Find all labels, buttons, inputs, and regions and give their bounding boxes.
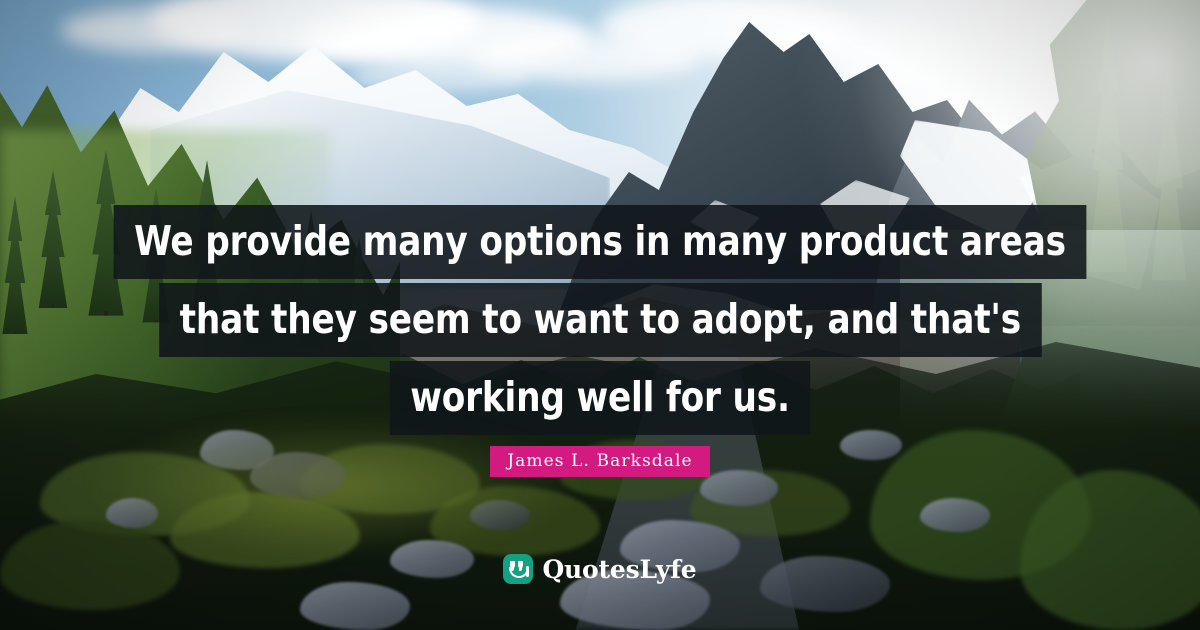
attribution: James L. Barksdale: [0, 446, 1200, 477]
quote-line-2: that they seem to want to adopt, and tha…: [159, 283, 1041, 357]
boulder: [470, 500, 530, 530]
brand-name: QuotesLyfe: [542, 557, 696, 582]
quote-line-3: working well for us.: [390, 361, 810, 435]
quote-smiley-icon: [503, 554, 533, 584]
quote-card: We provide many options in many product …: [0, 0, 1200, 630]
cloud: [60, 8, 240, 52]
quote-tail: [526, 566, 529, 577]
boulder: [106, 498, 158, 528]
brand-logo[interactable]: QuotesLyfe: [0, 554, 1200, 584]
quote-line-1: We provide many options in many product …: [114, 205, 1087, 279]
quote-text-block: We provide many options in many product …: [0, 205, 1200, 435]
boulder: [300, 582, 410, 630]
boulder: [920, 498, 990, 532]
author-name: James L. Barksdale: [490, 446, 709, 477]
